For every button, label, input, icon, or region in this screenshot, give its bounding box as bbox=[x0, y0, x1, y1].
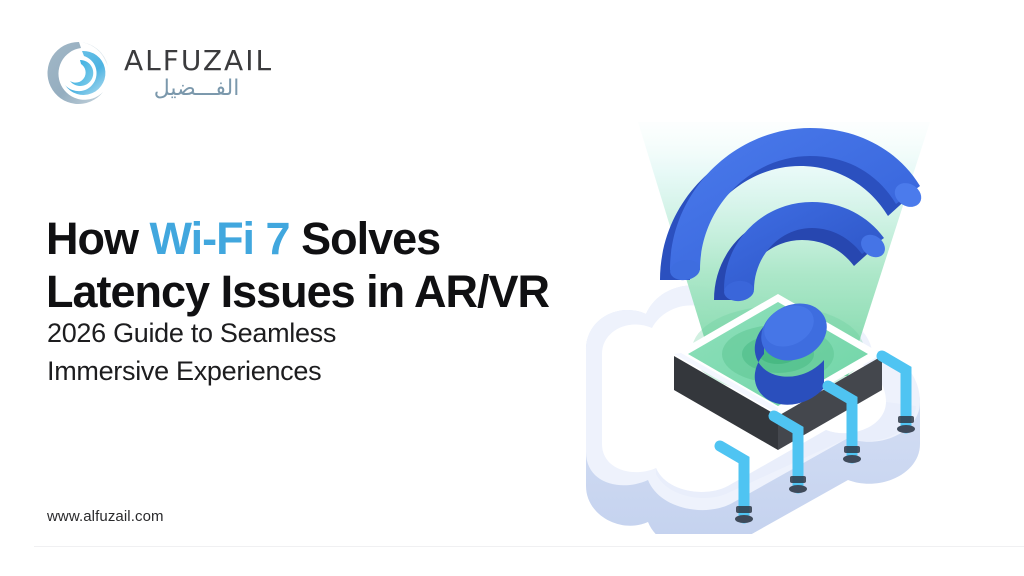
subtitle-line2: Immersive Experiences bbox=[47, 356, 321, 386]
bottom-divider bbox=[34, 546, 1024, 547]
page-title: How Wi-Fi 7 Solves Latency Issues in AR/… bbox=[46, 212, 606, 318]
wifi-router-cloud-illustration bbox=[548, 104, 1018, 534]
headline-accent: Wi-Fi 7 bbox=[150, 213, 290, 264]
headline-part1: How bbox=[46, 213, 150, 264]
page-subtitle: 2026 Guide to Seamless Immersive Experie… bbox=[47, 314, 477, 391]
brand-logo-text: ALFUZAIL الفـــضيل bbox=[124, 45, 273, 101]
brand-arabic-wordmark: الفـــضيل bbox=[124, 77, 273, 101]
headline-part2: Solves bbox=[290, 213, 441, 264]
brand-logo[interactable]: ALFUZAIL الفـــضيل bbox=[44, 38, 273, 108]
headline-line2: Latency Issues in AR/VR bbox=[46, 266, 549, 317]
brand-wordmark: ALFUZAIL bbox=[124, 47, 273, 75]
subtitle-line1: 2026 Guide to Seamless bbox=[47, 318, 336, 348]
slide-canvas: ALFUZAIL الفـــضيل How Wi-Fi 7 Solves La… bbox=[0, 0, 1024, 576]
alfuzail-spiral-mark-icon bbox=[44, 38, 114, 108]
website-url[interactable]: www.alfuzail.com bbox=[47, 508, 164, 525]
